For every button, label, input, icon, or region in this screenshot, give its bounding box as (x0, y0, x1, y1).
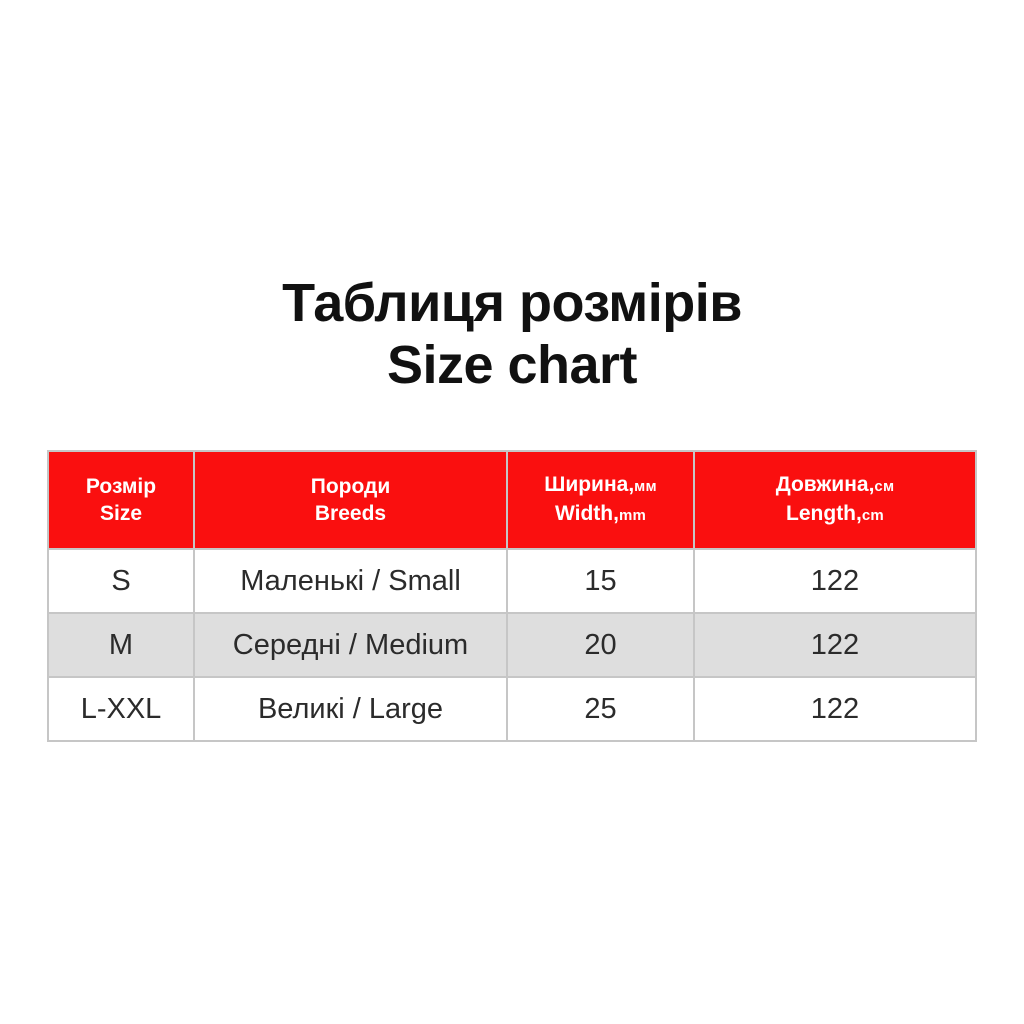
column-header-width-uk-unit: мм (634, 478, 657, 495)
table-header-row: Розмір Size Породи Breeds Ширина,мм Widt… (48, 451, 976, 549)
column-header-size-en: Size (57, 500, 185, 527)
table-body: S Маленькі / Small 15 122 M Середні / Me… (48, 549, 976, 741)
column-header-width-en-label: Width, (555, 502, 619, 525)
column-header-size-uk: Розмір (57, 473, 185, 500)
cell-size: L-XXL (48, 677, 194, 741)
column-header-length-en-label: Length, (786, 502, 862, 525)
column-header-length: Довжина,см Length,cm (694, 451, 976, 549)
cell-length: 122 (694, 549, 976, 613)
column-header-width: Ширина,мм Width,mm (507, 451, 694, 549)
column-header-breeds: Породи Breeds (194, 451, 507, 549)
column-header-width-en: Width,mm (516, 500, 685, 529)
cell-breeds: Великі / Large (194, 677, 507, 741)
cell-width: 15 (507, 549, 694, 613)
page-title: Таблиця розмірів Size chart (0, 272, 1024, 396)
column-header-size: Розмір Size (48, 451, 194, 549)
cell-size: S (48, 549, 194, 613)
column-header-length-uk-label: Довжина, (776, 473, 875, 496)
cell-breeds: Середні / Medium (194, 613, 507, 677)
column-header-width-en-unit: mm (619, 507, 646, 524)
table-header: Розмір Size Породи Breeds Ширина,мм Widt… (48, 451, 976, 549)
size-chart-page: Таблиця розмірів Size chart Розмір Size … (0, 0, 1024, 1024)
column-header-width-uk: Ширина,мм (516, 471, 685, 500)
column-header-breeds-en: Breeds (203, 500, 498, 527)
column-header-breeds-uk: Породи (203, 473, 498, 500)
table-row: M Середні / Medium 20 122 (48, 613, 976, 677)
column-header-width-uk-label: Ширина, (544, 473, 634, 496)
page-title-ukrainian: Таблиця розмірів (0, 272, 1024, 334)
cell-width: 20 (507, 613, 694, 677)
cell-breeds: Маленькі / Small (194, 549, 507, 613)
cell-width: 25 (507, 677, 694, 741)
cell-length: 122 (694, 677, 976, 741)
column-header-length-en: Length,cm (703, 500, 967, 529)
column-header-length-uk-unit: см (874, 478, 894, 495)
cell-length: 122 (694, 613, 976, 677)
cell-size: M (48, 613, 194, 677)
table-row: L-XXL Великі / Large 25 122 (48, 677, 976, 741)
page-title-english: Size chart (0, 334, 1024, 396)
column-header-length-en-unit: cm (862, 507, 884, 524)
size-chart-table: Розмір Size Породи Breeds Ширина,мм Widt… (47, 450, 977, 742)
column-header-length-uk: Довжина,см (703, 471, 967, 500)
table-row: S Маленькі / Small 15 122 (48, 549, 976, 613)
